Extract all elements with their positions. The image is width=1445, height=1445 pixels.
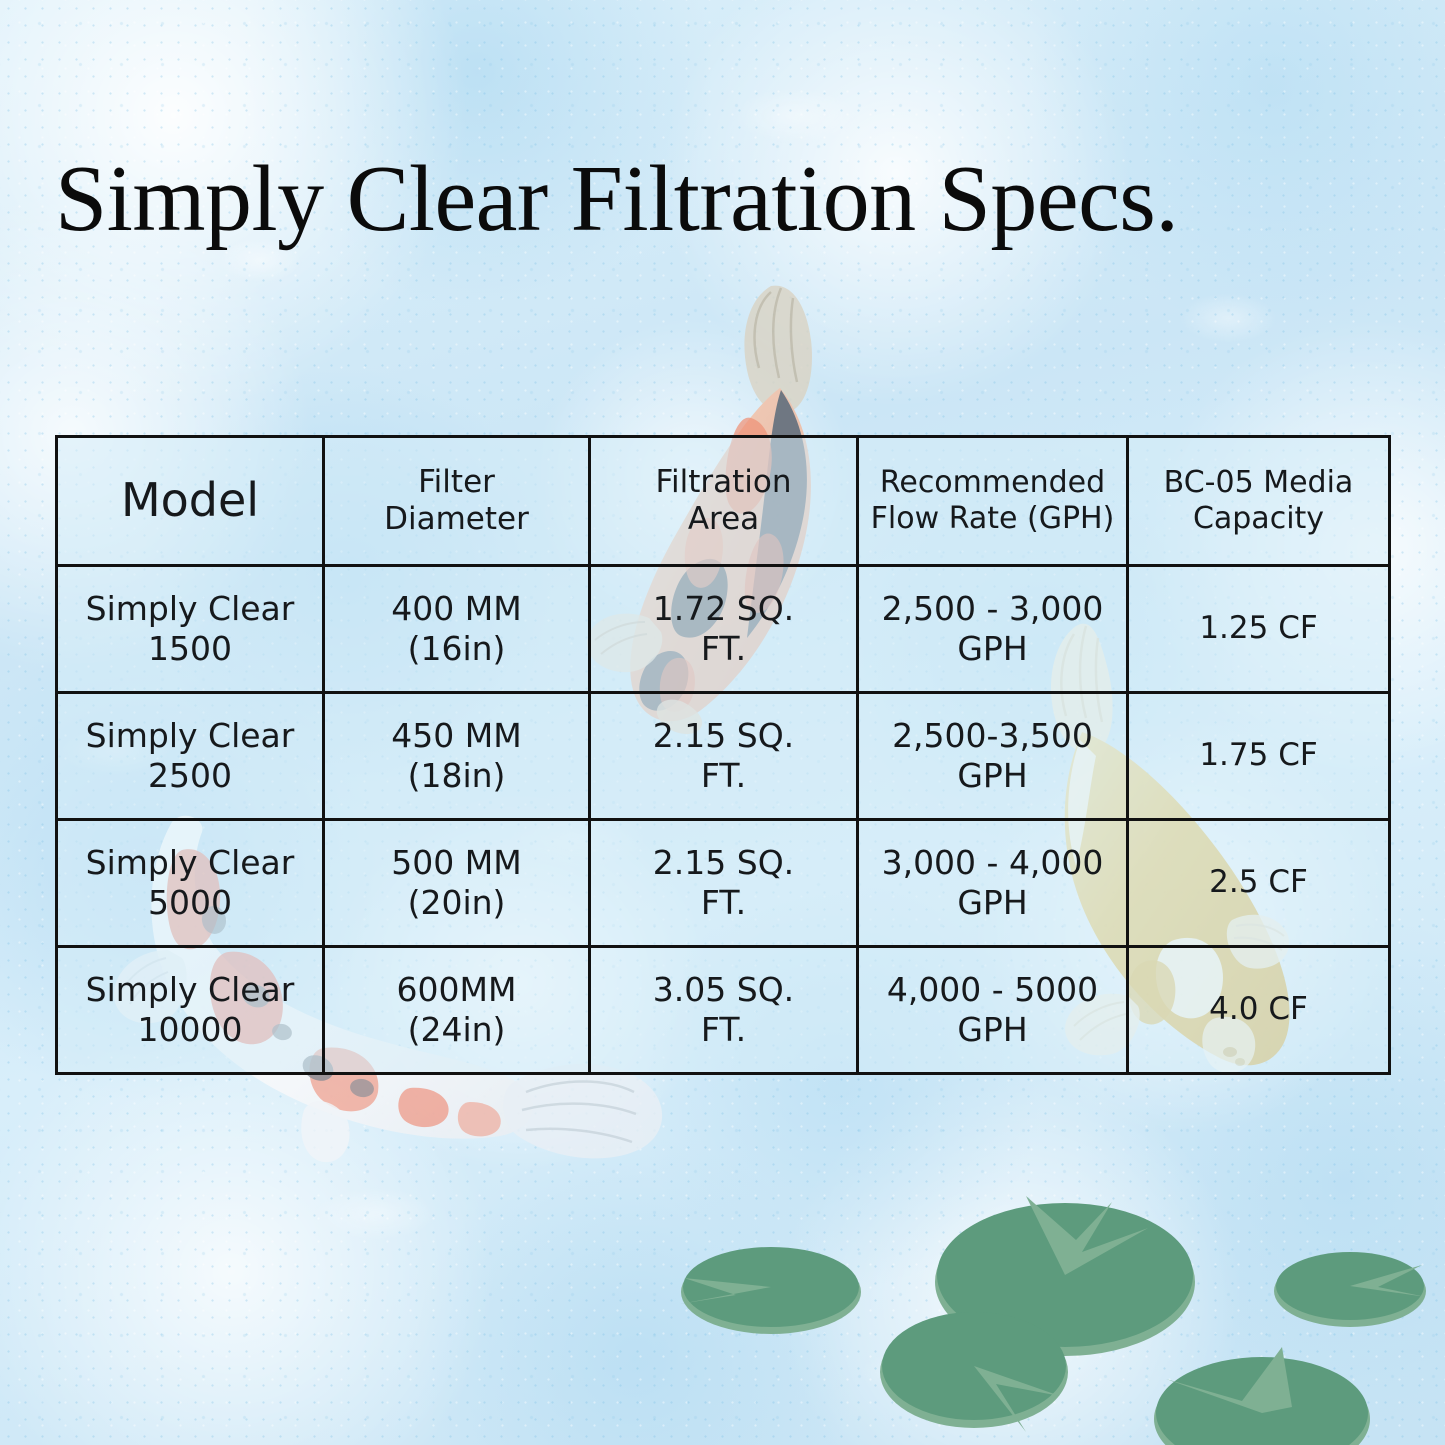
cell-line: FT. — [701, 629, 746, 668]
table-row: Simply Clear 2500 450 MM (18in) 2.15 SQ.… — [57, 693, 1390, 820]
cell-line: 2.15 SQ. — [653, 843, 794, 882]
page-title: Simply Clear Filtration Specs. — [55, 152, 1395, 246]
lilypad-medium-right-icon — [1150, 1345, 1380, 1445]
cell-line: 600MM — [397, 970, 517, 1009]
cell-line: FT. — [701, 756, 746, 795]
cell-line: Simply Clear — [86, 970, 295, 1009]
cell-model: Simply Clear 5000 — [57, 820, 324, 947]
cell-line: (24in) — [408, 1010, 506, 1049]
column-header-filter-diameter: Filter Diameter — [324, 437, 590, 566]
cell-line: 3,000 - 4,000 — [882, 843, 1104, 882]
cell-model: Simply Clear 1500 — [57, 566, 324, 693]
cell-flow-rate: 2,500 - 3,000 GPH — [858, 566, 1128, 693]
cell-filtration-area: 2.15 SQ. FT. — [590, 693, 858, 820]
header-line: Filter — [418, 464, 495, 500]
table-row: Simply Clear 5000 500 MM (20in) 2.15 SQ.… — [57, 820, 1390, 947]
cell-flow-rate: 3,000 - 4,000 GPH — [858, 820, 1128, 947]
filtration-specs-table: Model Filter Diameter Filtration Area Re… — [55, 435, 1391, 1075]
table-row: Simply Clear 1500 400 MM (16in) 1.72 SQ.… — [57, 566, 1390, 693]
header-line: Capacity — [1193, 501, 1324, 536]
cell-line: (16in) — [408, 629, 506, 668]
cell-model: Simply Clear 10000 — [57, 947, 324, 1074]
cell-media-capacity: 1.25 CF — [1128, 566, 1390, 693]
cell-filter-diameter: 600MM (24in) — [324, 947, 590, 1074]
cell-line: (18in) — [408, 756, 506, 795]
cell-line: 500 MM — [391, 843, 521, 882]
cell-line: (20in) — [408, 883, 506, 922]
table-body: Simply Clear 1500 400 MM (16in) 1.72 SQ.… — [57, 566, 1390, 1074]
cell-filtration-area: 1.72 SQ. FT. — [590, 566, 858, 693]
cell-line: 4,000 - 5000 — [887, 970, 1098, 1009]
cell-media-capacity: 1.75 CF — [1128, 693, 1390, 820]
header-line: Flow Rate (GPH) — [871, 501, 1115, 536]
cell-line: GPH — [957, 1010, 1027, 1049]
cell-line: 2.15 SQ. — [653, 716, 794, 755]
header-line: BC-05 Media — [1164, 465, 1354, 500]
column-header-bc05-media-capacity: BC-05 Media Capacity — [1128, 437, 1390, 566]
cell-line: 2,500 - 3,000 — [882, 589, 1104, 628]
cell-flow-rate: 2,500-3,500 GPH — [858, 693, 1128, 820]
lilypad-small-left-icon — [676, 1240, 866, 1340]
cell-filtration-area: 2.15 SQ. FT. — [590, 820, 858, 947]
cell-filter-diameter: 450 MM (18in) — [324, 693, 590, 820]
cell-line: 3.05 SQ. — [653, 970, 794, 1009]
header-line: Diameter — [384, 501, 529, 537]
cell-line: 450 MM — [391, 716, 521, 755]
cell-line: Simply Clear — [86, 843, 295, 882]
cell-flow-rate: 4,000 - 5000 GPH — [858, 947, 1128, 1074]
cell-filter-diameter: 500 MM (20in) — [324, 820, 590, 947]
cell-line: FT. — [701, 1010, 746, 1049]
cell-line: 2,500-3,500 — [892, 716, 1093, 755]
lilypad-medium-bottom-icon — [876, 1300, 1076, 1435]
cell-line: Simply Clear — [86, 716, 295, 755]
cell-line: FT. — [701, 883, 746, 922]
header-line: Model — [121, 473, 259, 527]
cell-filtration-area: 3.05 SQ. FT. — [590, 947, 858, 1074]
cell-media-capacity: 2.5 CF — [1128, 820, 1390, 947]
cell-line: GPH — [957, 629, 1027, 668]
cell-model: Simply Clear 2500 — [57, 693, 324, 820]
poster-canvas: Simply Clear Filtration Specs. Model Fil… — [0, 0, 1445, 1445]
lilypad-small-right-icon — [1270, 1245, 1430, 1330]
cell-line: 2500 — [148, 756, 232, 795]
header-line: Filtration — [655, 464, 791, 500]
table-header: Model Filter Diameter Filtration Area Re… — [57, 437, 1390, 566]
cell-line: GPH — [957, 756, 1027, 795]
cell-line: Simply Clear — [86, 589, 295, 628]
column-header-model: Model — [57, 437, 324, 566]
cell-line: GPH — [957, 883, 1027, 922]
cell-line: 1500 — [148, 629, 232, 668]
cell-line: 1.72 SQ. — [653, 589, 794, 628]
header-line: Area — [688, 501, 759, 537]
header-line: Recommended — [880, 465, 1105, 500]
column-header-filtration-area: Filtration Area — [590, 437, 858, 566]
table-header-row: Model Filter Diameter Filtration Area Re… — [57, 437, 1390, 566]
cell-line: 400 MM — [391, 589, 521, 628]
cell-filter-diameter: 400 MM (16in) — [324, 566, 590, 693]
table-row: Simply Clear 10000 600MM (24in) 3.05 SQ.… — [57, 947, 1390, 1074]
cell-line: 5000 — [148, 883, 232, 922]
column-header-recommended-flow-rate: Recommended Flow Rate (GPH) — [858, 437, 1128, 566]
cell-line: 10000 — [138, 1010, 243, 1049]
cell-media-capacity: 4.0 CF — [1128, 947, 1390, 1074]
